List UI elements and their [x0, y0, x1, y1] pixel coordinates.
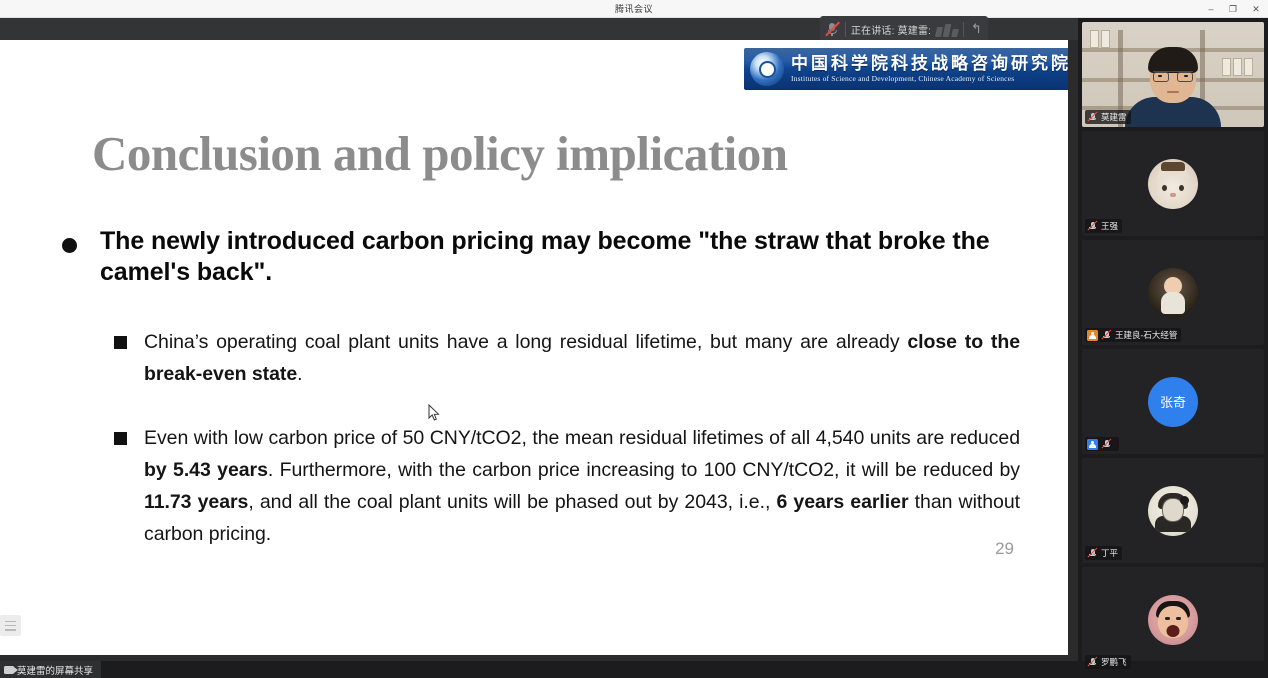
participant-namebar: 罗鹏飞 — [1085, 655, 1131, 669]
window-titlebar: 腾讯会议 – ❐ ✕ — [0, 0, 1268, 18]
bullet-level2-text: Even with low carbon price of 50 CNY/tCO… — [144, 427, 1020, 545]
participant-tile[interactable]: 王建良-石大经管 — [1082, 240, 1264, 345]
participant-name: 王建良-石大经管 — [1115, 329, 1177, 341]
close-icon[interactable]: ✕ — [1244, 0, 1268, 18]
participant-namebar: 王强 — [1085, 219, 1122, 233]
microphone-muted-icon — [1101, 439, 1112, 450]
filled-square-bullet-icon — [114, 432, 127, 445]
slide-menu-icon[interactable] — [0, 615, 21, 636]
participant-name: 莫建雷 — [1101, 111, 1127, 123]
status-bar: 莫建雷的屏幕共享 — [0, 661, 1078, 678]
emphasis-text: 6 years earlier — [776, 491, 908, 513]
participant-namebar: 王建良-石大经管 — [1085, 328, 1181, 342]
shared-slide-surface: 中国科学院科技战略咨询研究院 Institutes of Science and… — [0, 40, 1068, 655]
microphone-muted-icon — [1087, 221, 1098, 232]
filled-square-bullet-icon — [114, 336, 127, 349]
institute-name-cn: 中国科学院科技战略咨询研究院 — [791, 55, 1068, 72]
microphone-muted-icon — [1101, 330, 1112, 341]
window-controls: – ❐ ✕ — [1200, 0, 1268, 18]
plain-text: , and all the coal plant units will be p… — [248, 491, 776, 513]
microphone-muted-icon — [1087, 548, 1098, 559]
plain-text: . — [297, 363, 302, 385]
institute-emblem-icon — [750, 52, 784, 86]
participant-tile[interactable]: 罗鹏飞 — [1082, 567, 1264, 672]
volume-bars-icon — [936, 21, 958, 37]
participant-name: 罗鹏飞 — [1101, 656, 1127, 668]
maximize-icon[interactable]: ❐ — [1222, 0, 1244, 18]
emphasis-text: 11.73 years — [144, 491, 248, 513]
artwork-avatar — [1148, 486, 1198, 536]
emphasis-text: by 5.43 years — [144, 459, 268, 481]
bullet-level1-text: The newly introduced carbon pricing may … — [100, 227, 990, 286]
bullet-level2: Even with low carbon price of 50 CNY/tCO… — [108, 423, 1020, 551]
participant-name: 王强 — [1101, 220, 1118, 232]
screen-share-status: 莫建雷的屏幕共享 — [0, 661, 101, 678]
participant-namebar: 莫建雷 — [1085, 110, 1131, 124]
participant-tile[interactable]: 王强 — [1082, 131, 1264, 236]
plain-text: Even with low carbon price of 50 CNY/tCO… — [144, 427, 1020, 449]
bullet-level2: China’s operating coal plant units have … — [108, 327, 1020, 391]
divider — [963, 22, 964, 37]
participant-tile[interactable]: 张奇 — [1082, 349, 1264, 454]
institute-logo-banner: 中国科学院科技战略咨询研究院 Institutes of Science and… — [744, 48, 1068, 90]
baby-avatar — [1148, 268, 1198, 318]
window-title: 腾讯会议 — [615, 2, 653, 15]
plain-text: China’s operating coal plant units have … — [144, 331, 907, 353]
host-badge-icon — [1087, 330, 1098, 341]
slide-page-number: 29 — [995, 539, 1014, 559]
participant-tile[interactable]: 丁平 — [1082, 458, 1264, 563]
screen-share-icon — [4, 666, 14, 674]
plain-text: . Furthermore, with the carbon price inc… — [268, 459, 1020, 481]
screen-share-label: 莫建雷的屏幕共享 — [17, 663, 93, 677]
avatar-initials: 张奇 — [1160, 392, 1186, 411]
minimize-icon[interactable]: – — [1200, 0, 1222, 18]
filled-circle-bullet-icon — [62, 238, 77, 253]
microphone-muted-icon — [1087, 657, 1098, 668]
slide-title: Conclusion and policy implication — [92, 128, 1012, 179]
mouse-cursor — [428, 404, 440, 422]
slide-body: The newly introduced carbon pricing may … — [0, 226, 1068, 551]
cat-avatar — [1148, 159, 1198, 209]
participant-namebar: 丁平 — [1085, 546, 1122, 560]
bullet-level2-text: China’s operating coal plant units have … — [144, 331, 1020, 385]
participant-tile[interactable]: 莫建雷 — [1082, 22, 1264, 127]
institute-name-en: Institutes of Science and Development, C… — [791, 75, 1068, 83]
speaking-label: 正在讲话: 莫建雷: — [851, 22, 931, 37]
emphasis-text: The newly introduced carbon pricing may … — [100, 227, 990, 286]
cohost-badge-icon — [1087, 439, 1098, 450]
laughing-face-avatar — [1148, 595, 1198, 645]
bullet-level1: The newly introduced carbon pricing may … — [56, 226, 1022, 287]
speaking-indicator-bar[interactable]: 正在讲话: 莫建雷: ↰ — [820, 16, 988, 42]
divider — [845, 22, 846, 37]
microphone-muted-icon[interactable] — [824, 21, 840, 37]
meeting-window: 腾讯会议 – ❐ ✕ 正在讲话: 莫建雷: ↰ 中国科学院科技战略咨询研究院 I… — [0, 0, 1268, 678]
back-arrow-icon[interactable]: ↰ — [969, 21, 984, 37]
participant-name: 丁平 — [1101, 547, 1118, 559]
participant-filmstrip[interactable]: 莫建雷 王强 王建良-石大经管 张奇 — [1078, 18, 1268, 678]
initial-avatar: 张奇 — [1148, 377, 1198, 427]
microphone-icon — [1087, 112, 1098, 123]
participant-namebar — [1085, 437, 1119, 451]
